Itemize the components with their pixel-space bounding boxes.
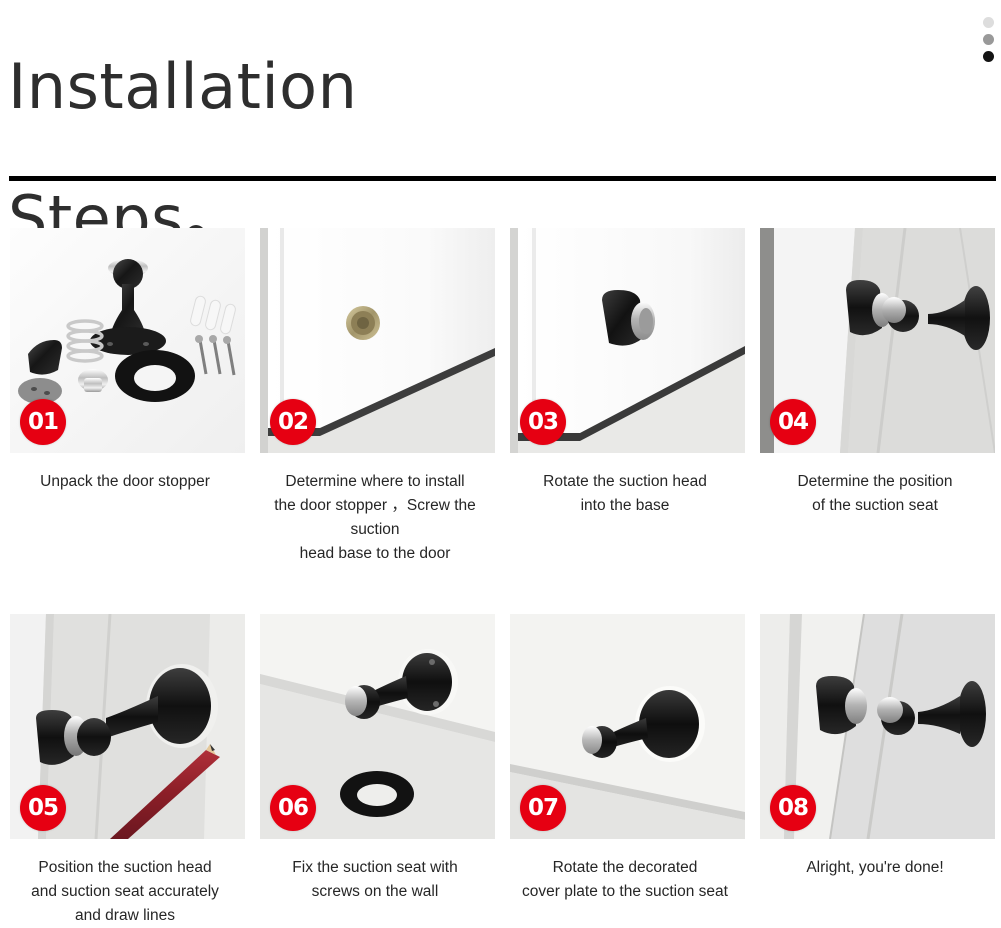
step-photo-05: 05 [10,614,245,839]
step-caption-06: Fix the suction seat with screws on the … [263,856,488,904]
step-badge-03: 03 [520,399,566,445]
step-cell-04: 04 Determine the position of the suction… [750,228,1000,566]
pagination-dot-2-icon[interactable] [983,34,994,45]
step-cell-06: 06 Fix the suction seat with screws on t… [250,614,500,928]
step-caption-07: Rotate the decorated cover plate to the … [513,856,738,904]
step-caption-04: Determine the position of the suction se… [763,470,988,518]
step-caption-03: Rotate the suction head into the base [513,470,738,518]
step-cell-01: 01 Unpack the door stopper [0,228,250,566]
pagination-dots [983,17,994,62]
step-caption-01: Unpack the door stopper [13,470,238,494]
step-cell-02: 02 Determine where to install the door s… [250,228,500,566]
step-cell-08: 08 Alright, you're done! [750,614,1000,928]
header-divider [9,176,996,181]
step-badge-01: 01 [20,399,66,445]
step-photo-07: 07 [510,614,745,839]
step-caption-02: Determine where to install the door stop… [263,470,488,566]
step-badge-07: 07 [520,785,566,831]
step-cell-05: 05 Position the suction head and suction… [0,614,250,928]
step-photo-04: 04 [760,228,995,453]
step-badge-04: 04 [770,399,816,445]
page-title-line-1: Installation [8,50,357,123]
step-photo-02: 02 [260,228,495,453]
step-photo-01: 01 [10,228,245,453]
installation-steps-grid: 01 Unpack the door stopper [0,228,1001,928]
step-caption-05: Position the suction head and suction se… [13,856,238,928]
step-badge-02: 02 [270,399,316,445]
step-photo-06: 06 [260,614,495,839]
step-badge-05: 05 [20,785,66,831]
step-cell-07: 07 Rotate the decorated cover plate to t… [500,614,750,928]
step-badge-06: 06 [270,785,316,831]
pagination-dot-3-icon[interactable] [983,51,994,62]
row-spacer [0,566,1000,614]
step-photo-08: 08 [760,614,995,839]
step-cell-03: 03 Rotate the suction head into the base [500,228,750,566]
step-badge-08: 08 [770,785,816,831]
pagination-dot-1-icon[interactable] [983,17,994,28]
step-caption-08: Alright, you're done! [763,856,988,880]
step-photo-03: 03 [510,228,745,453]
